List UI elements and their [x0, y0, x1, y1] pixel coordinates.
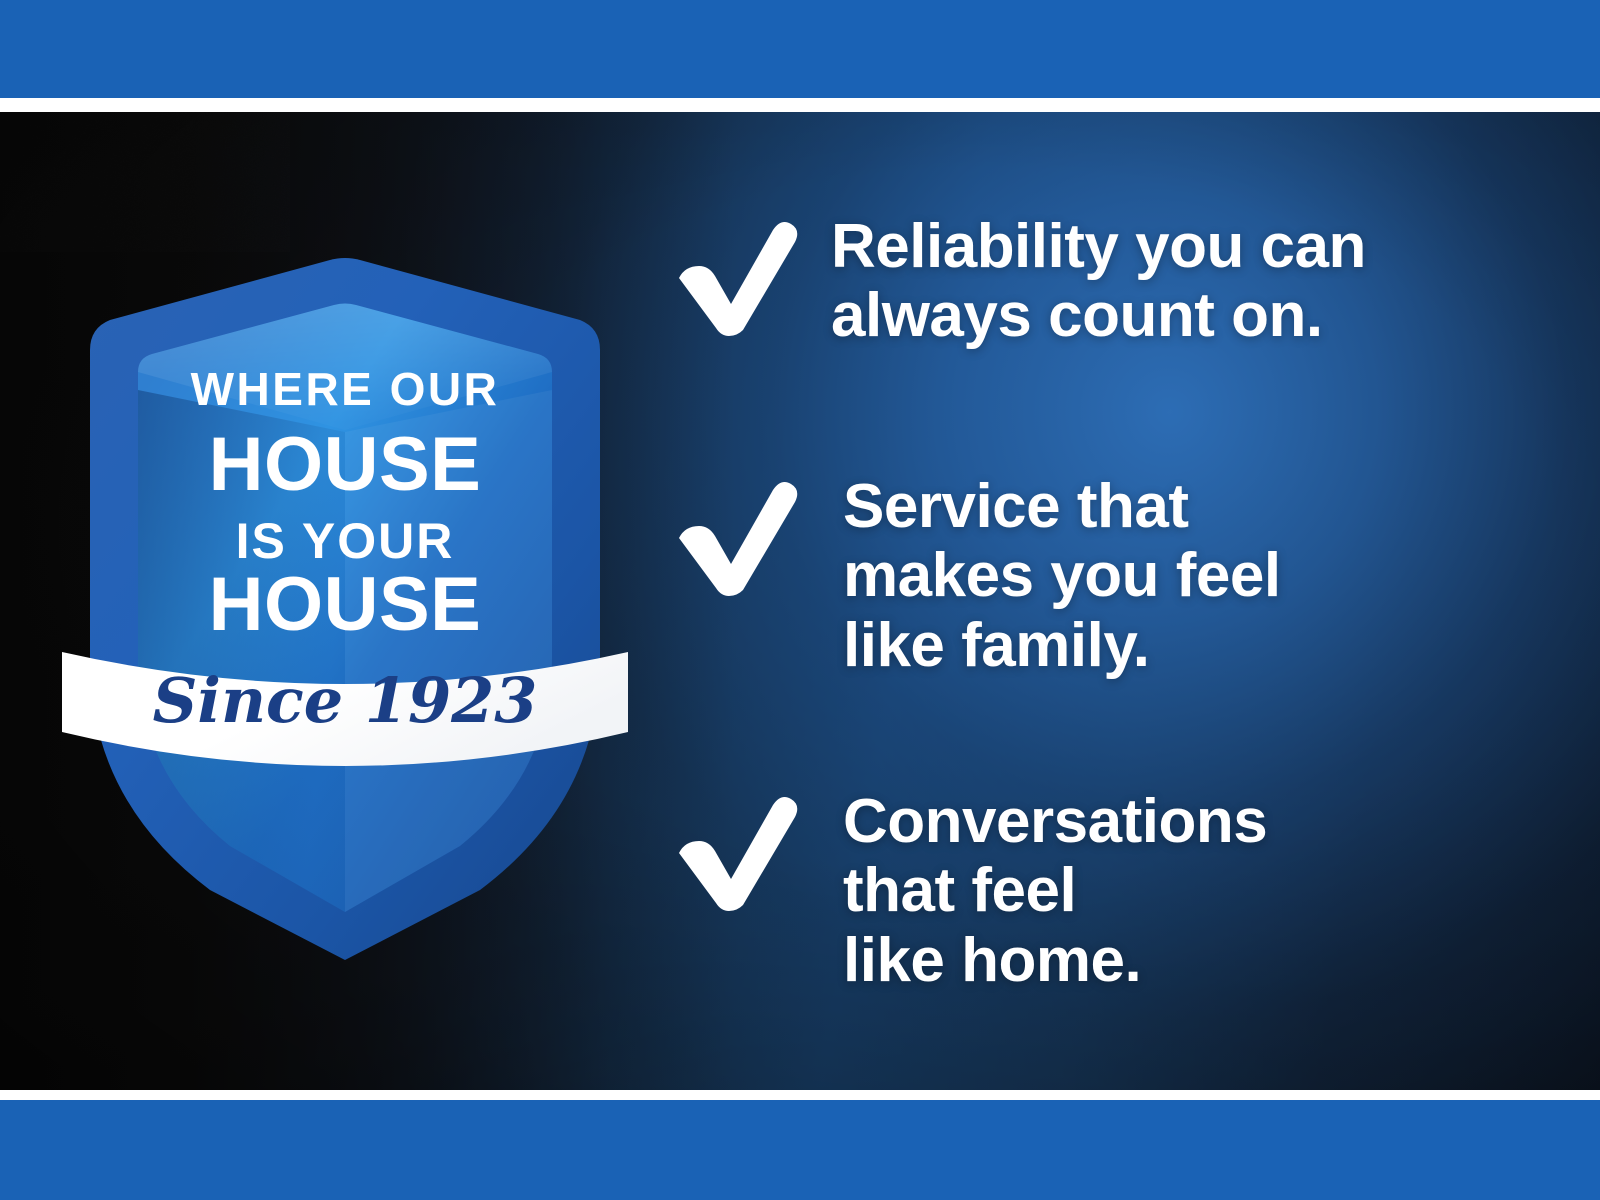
- benefits-list: Reliability you can always count on. Ser…: [665, 112, 1535, 1090]
- benefit-item-service: Service that makes you feel like family.: [665, 472, 1281, 680]
- benefit-text: Reliability you can always count on.: [805, 212, 1366, 351]
- logo-line-where-our: WHERE OUR: [191, 363, 500, 415]
- promo-poster: WHERE OUR HOUSE IS YOUR HOUSE Since 1923…: [0, 0, 1600, 1200]
- logo-line-is-your: IS YOUR: [236, 513, 455, 569]
- benefit-item-conversations: Conversations that feel like home.: [665, 787, 1267, 995]
- top-white-divider: [0, 98, 1600, 112]
- bottom-white-divider: [0, 1090, 1600, 1100]
- checkmark-icon: [665, 476, 805, 596]
- top-brand-bar: [0, 0, 1600, 98]
- logo-banner-since-text: Since 1923: [153, 664, 538, 737]
- checkmark-icon: [665, 791, 805, 911]
- bottom-brand-bar: [0, 1100, 1600, 1200]
- logo-line-house-1: HOUSE: [209, 422, 482, 507]
- benefit-text: Service that makes you feel like family.: [805, 472, 1281, 680]
- benefit-item-reliability: Reliability you can always count on.: [665, 212, 1366, 351]
- benefit-text: Conversations that feel like home.: [805, 787, 1267, 995]
- logo-line-house-2: HOUSE: [209, 562, 482, 647]
- company-shield-logo: WHERE OUR HOUSE IS YOUR HOUSE Since 1923: [60, 160, 630, 960]
- checkmark-icon: [665, 216, 805, 336]
